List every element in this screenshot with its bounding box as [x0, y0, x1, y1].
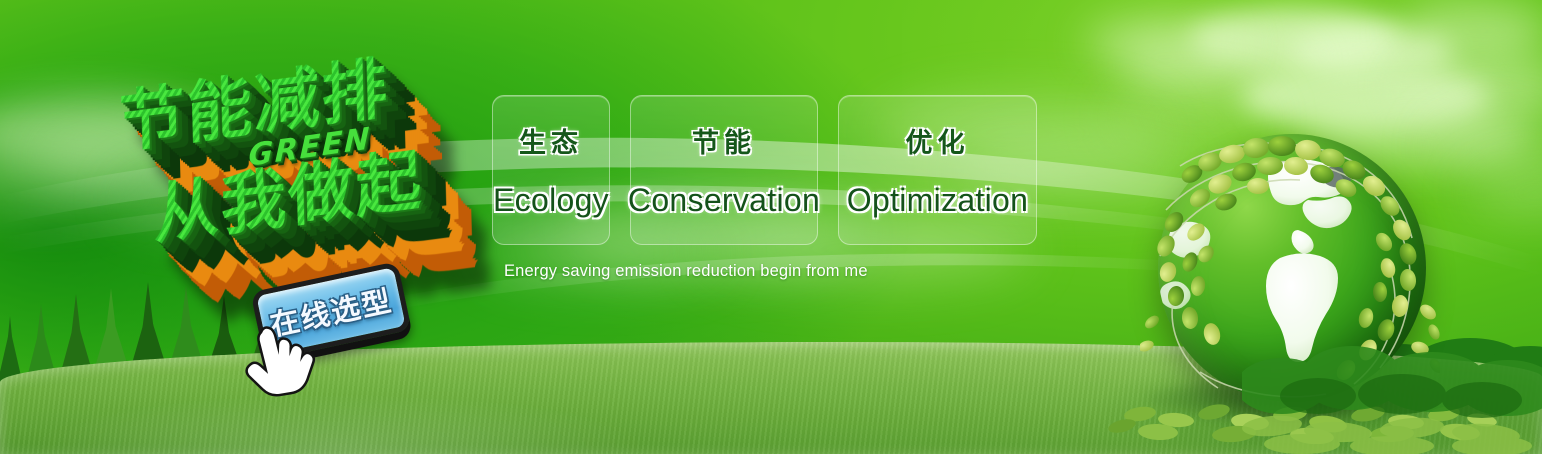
feature-card-optimization[interactable]: 优化 Optimization — [838, 95, 1037, 245]
right-foliage — [1242, 334, 1542, 454]
feature-card-title-cn: 生态 — [519, 121, 583, 160]
feature-card-conservation[interactable]: 节能 Conservation — [630, 95, 818, 245]
feature-card-ecology[interactable]: 生态 Ecology — [492, 95, 610, 245]
feature-card-title-cn: 节能 — [692, 121, 756, 160]
feature-card-title-cn: 优化 — [906, 121, 970, 160]
tagline-text: Energy saving emission reduction begin f… — [504, 262, 868, 281]
cloud-icon — [1400, 2, 1542, 60]
pointing-hand-cursor-icon — [240, 322, 318, 406]
eco-banner: 节能减排 GREEN 从我做起 在线选型 生态 Ecology 节能 Conse… — [0, 0, 1542, 454]
title-artwork: 节能减排 GREEN 从我做起 — [96, 38, 496, 268]
cloud-icon — [1085, 18, 1245, 66]
feature-card-title-en: Optimization — [847, 182, 1028, 219]
feature-cards: 生态 Ecology 节能 Conservation 优化 Optimizati… — [492, 95, 1037, 245]
feature-card-title-en: Conservation — [628, 182, 820, 219]
feature-card-title-en: Ecology — [493, 182, 609, 219]
